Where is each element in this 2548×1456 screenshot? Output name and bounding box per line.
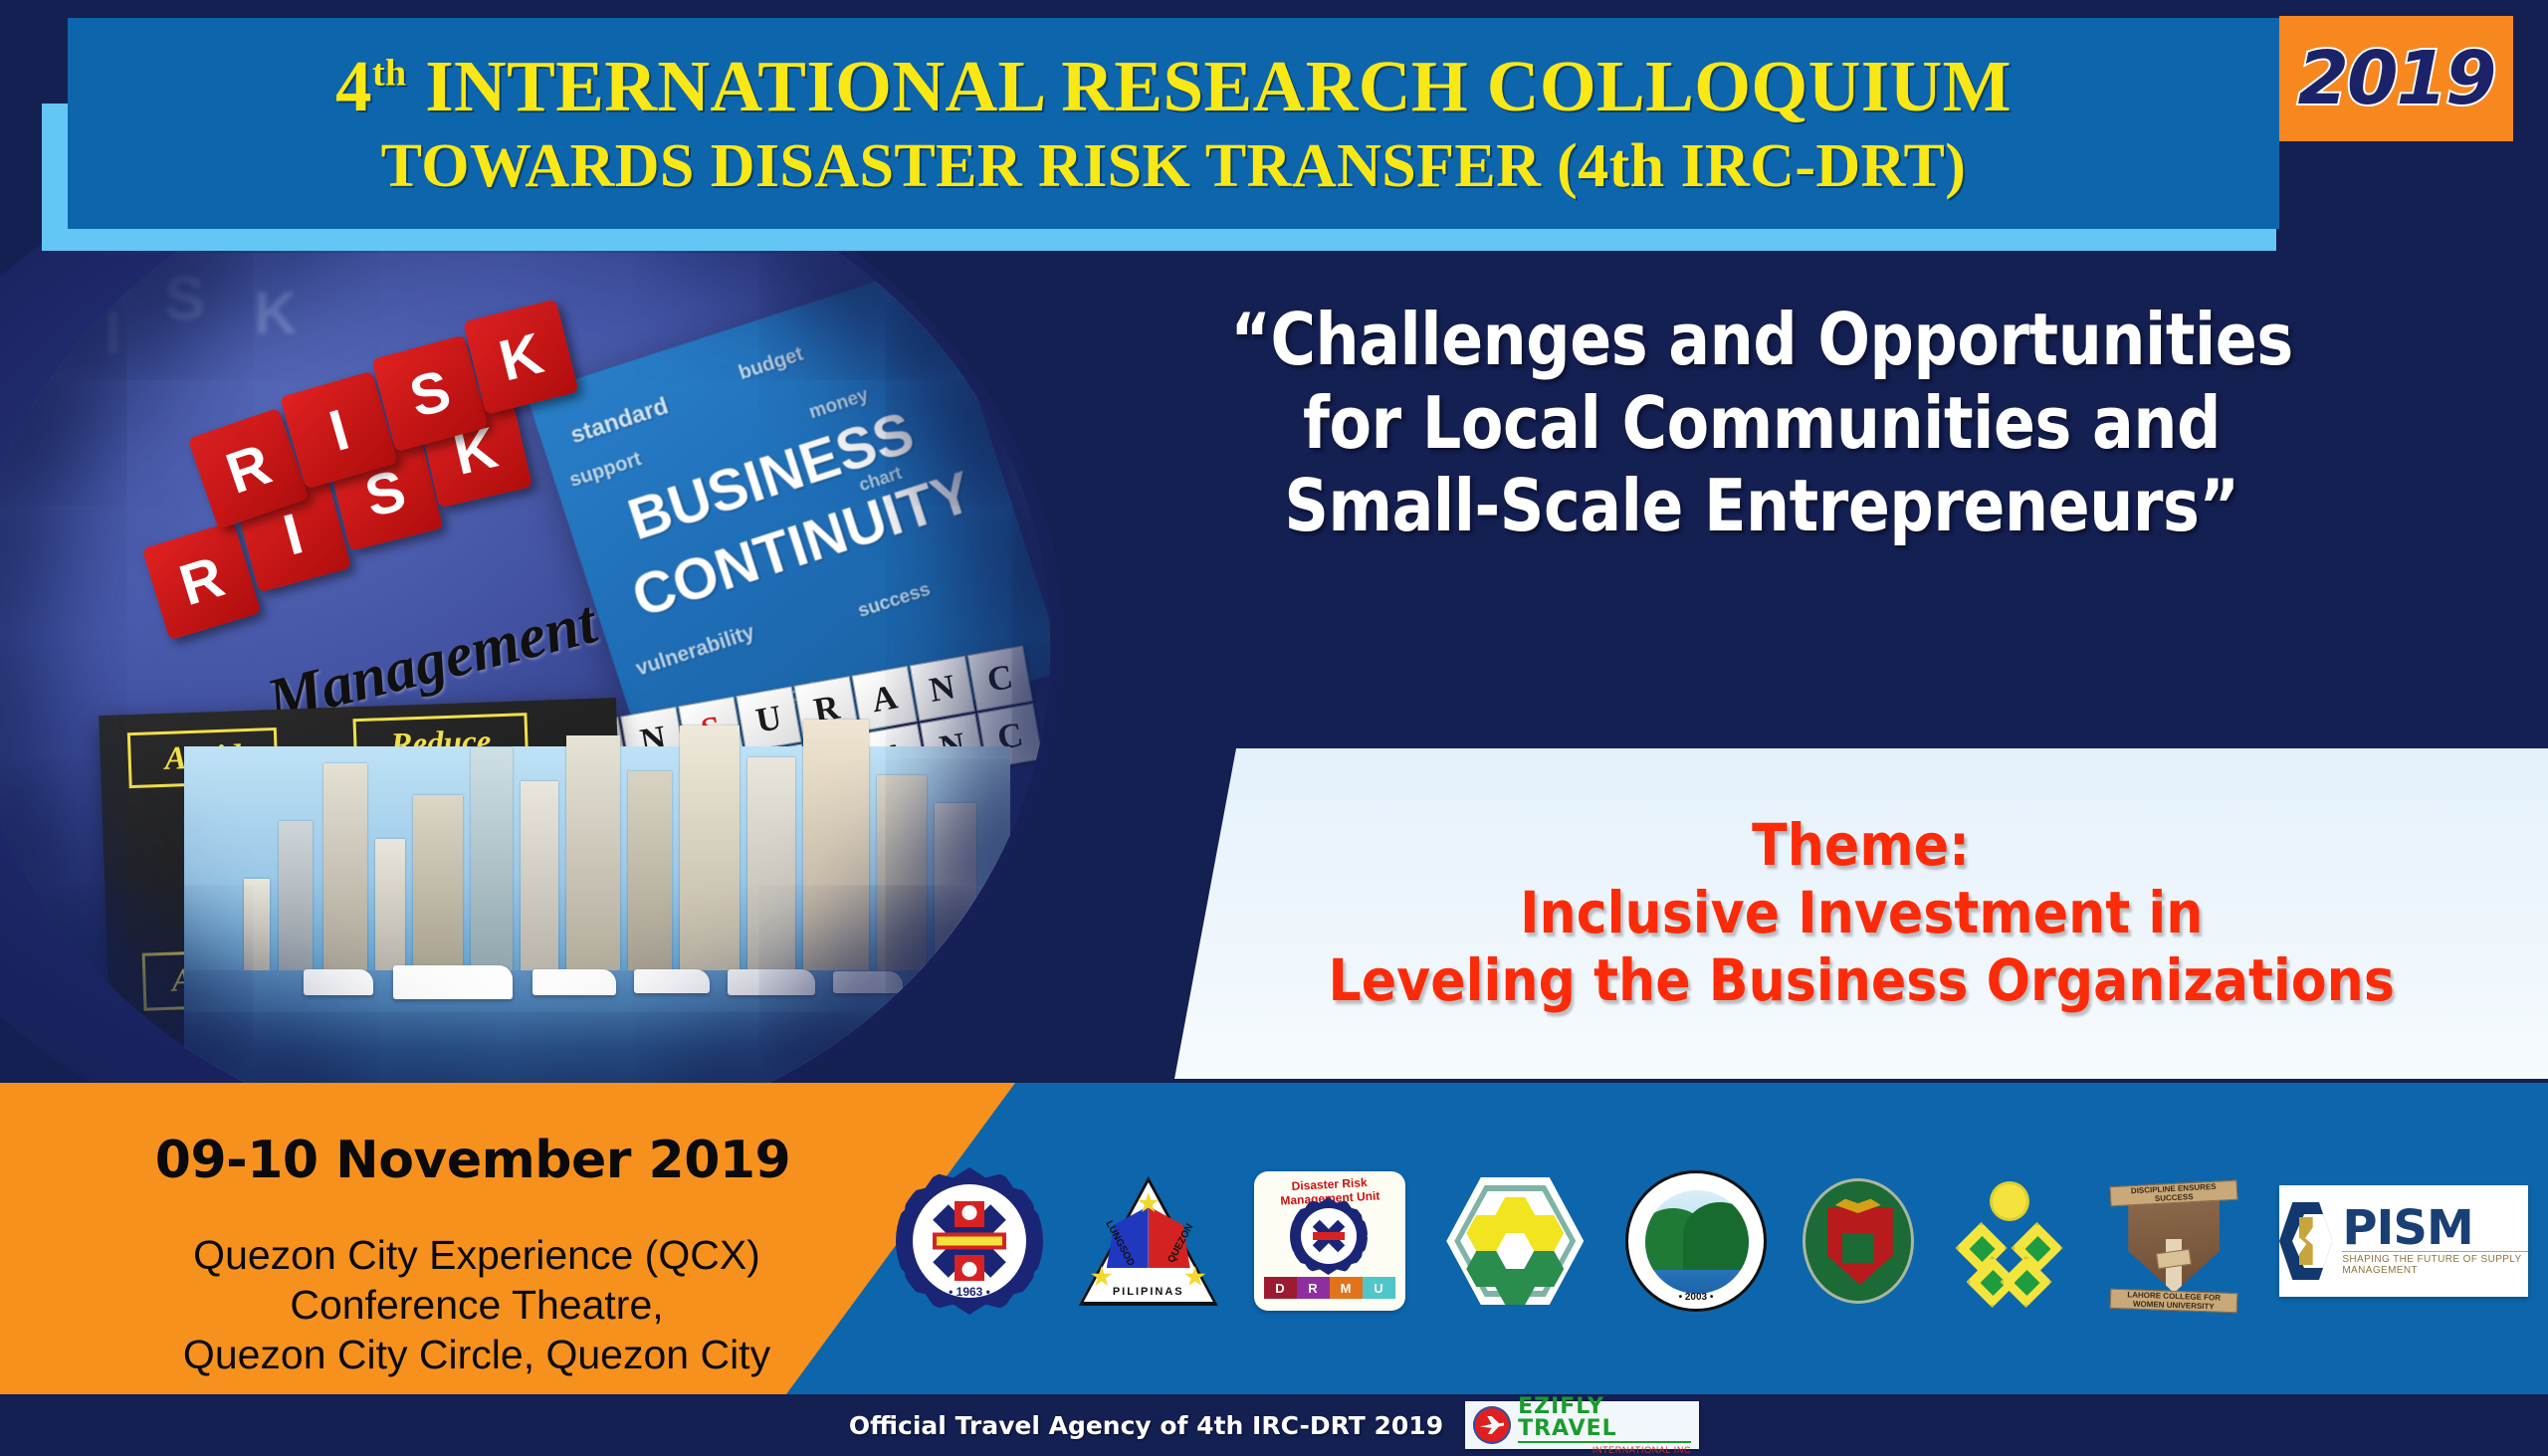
ezifly-globe-icon [1473, 1406, 1511, 1444]
year-badge-label: 2019 [2298, 36, 2495, 121]
logo-pism: PISM SHAPING THE FUTURE OF SUPPLY MANAGE… [2279, 1185, 2528, 1297]
pism-tagline: SHAPING THE FUTURE OF SUPPLY MANAGEMENT [2342, 1251, 2528, 1276]
logo-ezifly-travel: EZIFLY TRAVEL INTERNATIONAL INC [1465, 1401, 1699, 1449]
quote-line-3: Small-Scale Entrepreneurs” [1103, 465, 2421, 548]
logo-up-seal [1803, 1178, 1914, 1304]
theme-panel: Theme: Inclusive Investment in Leveling … [1174, 748, 2548, 1079]
logo-drmu: Disaster Risk Management Unit D R M U [1254, 1171, 1405, 1311]
colloquium-theme-quote: “Challenges and Opportunities for Local … [1103, 299, 2421, 548]
theme-line-3: Leveling the Business Organizations [1328, 949, 2394, 1013]
drmu-letter-r: R [1297, 1277, 1330, 1299]
year-badge: 2019 [2279, 16, 2513, 141]
venue-line-1: Quezon City Experience (QCX) [0, 1230, 1015, 1280]
logo-plmar: • 2003 • [1625, 1170, 1767, 1312]
logo-quezon-city: LUNGSOD QUEZON PILIPINAS [1079, 1176, 1218, 1306]
lcwu-subtitle: LAHORE COLLEGE FOR WOMEN UNIVERSITY [2110, 1289, 2238, 1313]
ins-c: C [967, 645, 1033, 711]
event-dates: 09-10 November 2019 [0, 1131, 1015, 1190]
logo-honeycomb [1440, 1171, 1590, 1311]
ezifly-name: EZIFLY TRAVEL [1518, 1396, 1691, 1443]
pism-wordmark: PISM [2342, 1206, 2528, 1252]
page-title-line2: TOWARDS DISASTER RISK TRANSFER (4th IRC-… [381, 135, 1967, 197]
die-r1: R [142, 521, 262, 641]
title-ordinal-suffix: th [372, 53, 407, 95]
drmu-letter-d: D [1264, 1277, 1297, 1299]
logo-lcwu: DISCIPLINE ENSURES SUCCESS LAHORE COLLEG… [2104, 1167, 2243, 1315]
qc-word-pilipinas: PILIPINAS [1079, 1286, 1218, 1298]
ezifly-subtitle: INTERNATIONAL INC [1518, 1446, 1691, 1455]
event-poster: R I S K R I S K R I BUSINESS CONTINUITY … [0, 0, 2548, 1456]
quote-line-2: for Local Communities and [1103, 382, 2421, 466]
airplane-icon [1480, 1416, 1504, 1434]
title-line1-rest: INTERNATIONAL RESEARCH COLLOQUIUM [407, 46, 2012, 126]
risk-collage-image: R I S K R I S K R I BUSINESS CONTINUITY … [0, 149, 1050, 1144]
theme-line-2: Inclusive Investment in [1520, 882, 2203, 945]
footer-text: Official Travel Agency of 4th IRC-DRT 20… [849, 1411, 1443, 1440]
page-title-line1: 4th INTERNATIONAL RESEARCH COLLOQUIUM [335, 50, 2012, 122]
header-panel: 4th INTERNATIONAL RESEARCH COLLOQUIUM TO… [68, 18, 2279, 229]
plmar-year: • 2003 • [1628, 1292, 1764, 1303]
logo-flower [1950, 1176, 2069, 1306]
title-ordinal: 4 [335, 46, 372, 126]
footer-bar: Official Travel Agency of 4th IRC-DRT 20… [0, 1394, 2548, 1456]
pism-hex-mark [2279, 1202, 2332, 1280]
ins-n2: N [910, 656, 975, 722]
partner-logo-row: • 1963 • LUNGSOD QUEZON PILIPINAS Disast… [896, 1117, 2528, 1365]
drmu-letter-m: M [1330, 1277, 1363, 1299]
ins-u: U [736, 686, 801, 751]
logo-psba: • 1963 • [896, 1167, 1043, 1315]
drmu-letter-strip: D R M U [1264, 1277, 1395, 1299]
psba-year: • 1963 • [896, 1285, 1043, 1299]
drmu-letter-u: U [1363, 1277, 1395, 1299]
theme-label: Theme: [1753, 814, 1971, 878]
quote-line-1: “Challenges and Opportunities [1103, 299, 2421, 382]
